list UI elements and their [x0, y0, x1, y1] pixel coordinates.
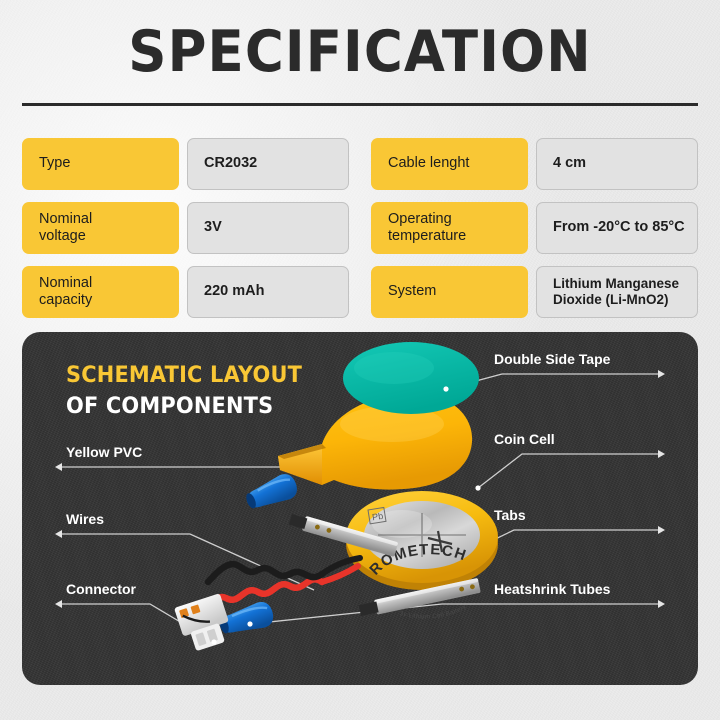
leader-arrowheads-left — [55, 463, 62, 608]
callout-label-wires: Wires — [66, 511, 104, 527]
page-title: SPECIFICATION — [25, 24, 695, 81]
spec-label: Nominal capacity — [22, 266, 179, 318]
spec-label: Operating temperature — [371, 202, 528, 254]
spec-row: Nominal voltage 3V — [22, 202, 349, 254]
wires-part — [208, 558, 360, 608]
spec-label: System — [371, 266, 528, 318]
exploded-view-illustration: ROMETECH 3v Lithium Cell Battery Pb — [22, 332, 698, 685]
spec-label: Cable lenght — [371, 138, 528, 190]
callout-label-double-side-tape: Double Side Tape — [494, 351, 610, 367]
spec-value: CR2032 — [187, 138, 349, 190]
spec-label: Type — [22, 138, 179, 190]
spec-column-left: Type CR2032 Nominal voltage 3V Nominal c… — [22, 138, 349, 318]
callout-label-heatshrink-tubes: Heatshrink Tubes — [494, 581, 610, 597]
coin-cell-anchor-dot — [475, 485, 480, 490]
spec-row: Type CR2032 — [22, 138, 349, 190]
leader-arrowheads-right — [658, 370, 665, 608]
page-title-wrap: SPECIFICATION — [0, 24, 720, 81]
spec-row: System Lithium Manganese Dioxide (Li-MnO… — [371, 266, 698, 318]
svg-text:Pb: Pb — [371, 511, 383, 523]
schematic-panel: SCHEMATIC LAYOUT OF COMPONENTS — [22, 332, 698, 685]
spec-label: Nominal voltage — [22, 202, 179, 254]
spec-row: Operating temperature From -20°C to 85°C — [371, 202, 698, 254]
callout-label-yellow-pvc: Yellow PVC — [66, 444, 142, 460]
page-root: SPECIFICATION Type CR2032 Nominal voltag… — [0, 0, 720, 720]
title-divider — [22, 103, 698, 106]
spec-row: Nominal capacity 220 mAh — [22, 266, 349, 318]
spec-value: From -20°C to 85°C — [536, 202, 698, 254]
callout-label-tabs: Tabs — [494, 507, 526, 523]
spec-value: 4 cm — [536, 138, 698, 190]
connector-anchor-dot — [211, 639, 216, 644]
double-side-tape-part — [343, 342, 479, 414]
tape-anchor-dot — [443, 386, 448, 391]
spec-value: 3V — [187, 202, 349, 254]
callout-label-connector: Connector — [66, 581, 136, 597]
spec-value: Lithium Manganese Dioxide (Li-MnO2) — [536, 266, 698, 318]
spec-value: 220 mAh — [187, 266, 349, 318]
spec-row: Cable lenght 4 cm — [371, 138, 698, 190]
callout-label-coin-cell: Coin Cell — [494, 431, 555, 447]
heatshrink-tube-upper — [243, 471, 301, 515]
specification-table: Type CR2032 Nominal voltage 3V Nominal c… — [22, 138, 698, 318]
heatshrink-anchor-dot — [247, 621, 252, 626]
spec-column-right: Cable lenght 4 cm Operating temperature … — [371, 138, 698, 318]
